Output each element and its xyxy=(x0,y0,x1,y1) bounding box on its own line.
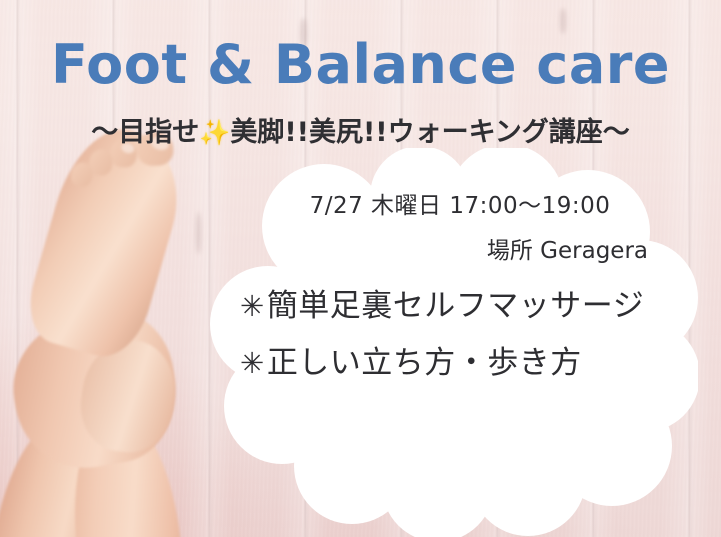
sparkles-icon: ✨ xyxy=(199,118,230,147)
upper-foot xyxy=(19,116,195,366)
event-venue: 場所 Geragera xyxy=(240,231,680,265)
list-item-label: 正しい立ち方・歩き方 xyxy=(267,348,582,379)
page-title: Foot & Balance care xyxy=(0,38,721,92)
wood-knot xyxy=(560,8,566,34)
list-item: ✳ 簡単足裏セルフマッサージ xyxy=(240,291,680,322)
event-details: 7/27 木曜日 17:00〜19:00 場所 Geragera ✳ 簡単足裏セ… xyxy=(240,186,680,405)
list-item-label: 簡単足裏セルフマッサージ xyxy=(267,291,644,322)
list-item: ✳ 正しい立ち方・歩き方 xyxy=(240,348,680,379)
subtitle-after: 美脚!!美尻!!ウォーキング講座〜 xyxy=(230,117,629,148)
subtitle-before: 〜目指せ xyxy=(91,117,199,148)
event-datetime: 7/27 木曜日 17:00〜19:00 xyxy=(240,186,680,220)
topic-list: ✳ 簡単足裏セルフマッサージ ✳ 正しい立ち方・歩き方 xyxy=(240,291,680,379)
poster: Foot & Balance care 〜目指せ✨美脚!!美尻!!ウォーキング講… xyxy=(0,0,721,537)
asterisk-icon: ✳ xyxy=(240,349,265,378)
subtitle: 〜目指せ✨美脚!!美尻!!ウォーキング講座〜 xyxy=(0,118,721,148)
asterisk-icon: ✳ xyxy=(240,292,265,321)
